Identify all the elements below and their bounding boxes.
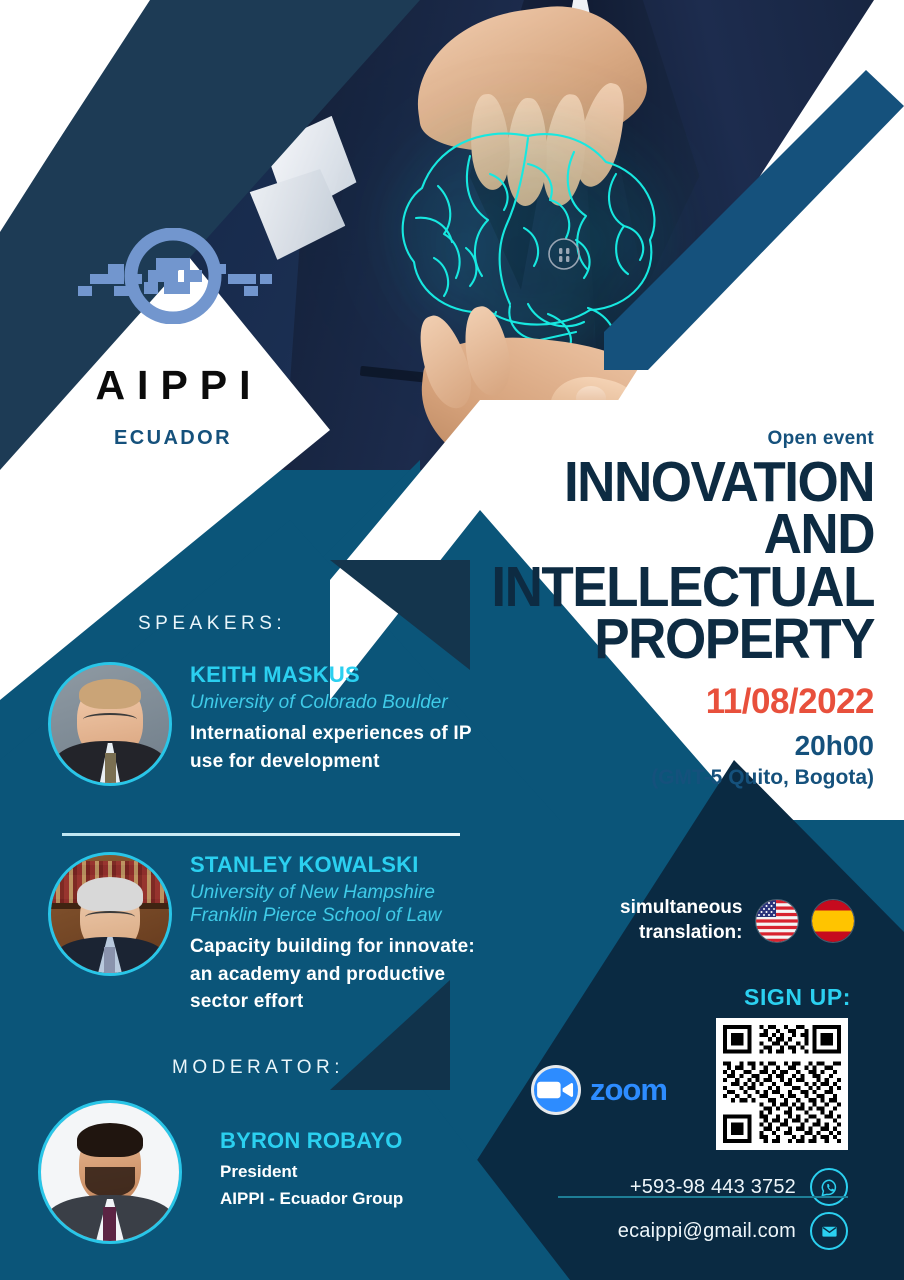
signup-label: SIGN UP: [744, 984, 851, 1011]
envelope-icon[interactable] [810, 1212, 848, 1250]
zoom-platform-logo: zoom [534, 1068, 667, 1112]
flag-united-states [756, 900, 798, 942]
contact-phone[interactable]: +593-98 443 3752 [528, 1168, 848, 1206]
title-line-4: PROPERTY [390, 613, 874, 665]
translation-label-line-2: translation: [620, 921, 742, 946]
speaker-photo-stanley-kowalski [48, 852, 172, 976]
moderator-card: BYRON ROBAYO President AIPPI - Ecuador G… [38, 1100, 403, 1244]
moderator-role: President [220, 1160, 403, 1185]
aippi-circuit-logo-icon [48, 228, 298, 324]
speakers-section-label: SPEAKERS: [138, 613, 286, 635]
flag-spain [812, 900, 854, 942]
moderator-group: AIPPI - Ecuador Group [220, 1187, 403, 1212]
speaker-card-2: STANLEY KOWALSKI University of New Hamps… [48, 852, 502, 1016]
speaker-affiliation: University of Colorado Boulder [190, 691, 502, 714]
translation-block: simultaneous translation: [620, 896, 854, 945]
zoom-camera-icon [534, 1068, 578, 1112]
zoom-wordmark: zoom [590, 1072, 667, 1108]
speaker-topic: International experiences of IP use for … [190, 720, 502, 775]
moderator-section-label: MODERATOR: [172, 1057, 344, 1079]
title-line-2: AND [390, 508, 874, 560]
speaker-photo-keith-maskus [48, 662, 172, 786]
logo-chapter: ECUADOR [38, 427, 308, 450]
qr-code-registration[interactable] [716, 1018, 848, 1150]
speaker-affiliation: University of New Hampshire Franklin Pie… [190, 881, 490, 927]
logo-block: AIPPI ECUADOR [38, 228, 308, 450]
logo-wordmark: AIPPI [38, 362, 308, 409]
title-line-3: INTELLECTUAL [390, 561, 874, 613]
speaker-card-1: KEITH MASKUS University of Colorado Boul… [48, 662, 502, 786]
speaker-topic: Capacity building for innovate: an acade… [190, 933, 502, 1016]
title-line-1: INNOVATION [390, 456, 874, 508]
moderator-photo-byron-robayo [38, 1100, 182, 1244]
email-address: ecaippi@gmail.com [618, 1220, 796, 1243]
event-poster: AIPPI ECUADOR Open event INNOVATION AND … [0, 0, 904, 1280]
moderator-name: BYRON ROBAYO [220, 1128, 403, 1154]
speaker-name: KEITH MASKUS [190, 662, 502, 688]
page-title: INNOVATION AND INTELLECTUAL PROPERTY [390, 456, 874, 666]
contact-email[interactable]: ecaippi@gmail.com [528, 1212, 848, 1250]
translation-label-line-1: simultaneous [620, 896, 742, 921]
translation-label: simultaneous translation: [620, 896, 742, 945]
whatsapp-icon[interactable] [810, 1168, 848, 1206]
contact-divider [558, 1196, 848, 1198]
speaker-divider [62, 833, 460, 836]
speaker-name: STANLEY KOWALSKI [190, 852, 502, 878]
event-kicker: Open event [354, 428, 874, 450]
